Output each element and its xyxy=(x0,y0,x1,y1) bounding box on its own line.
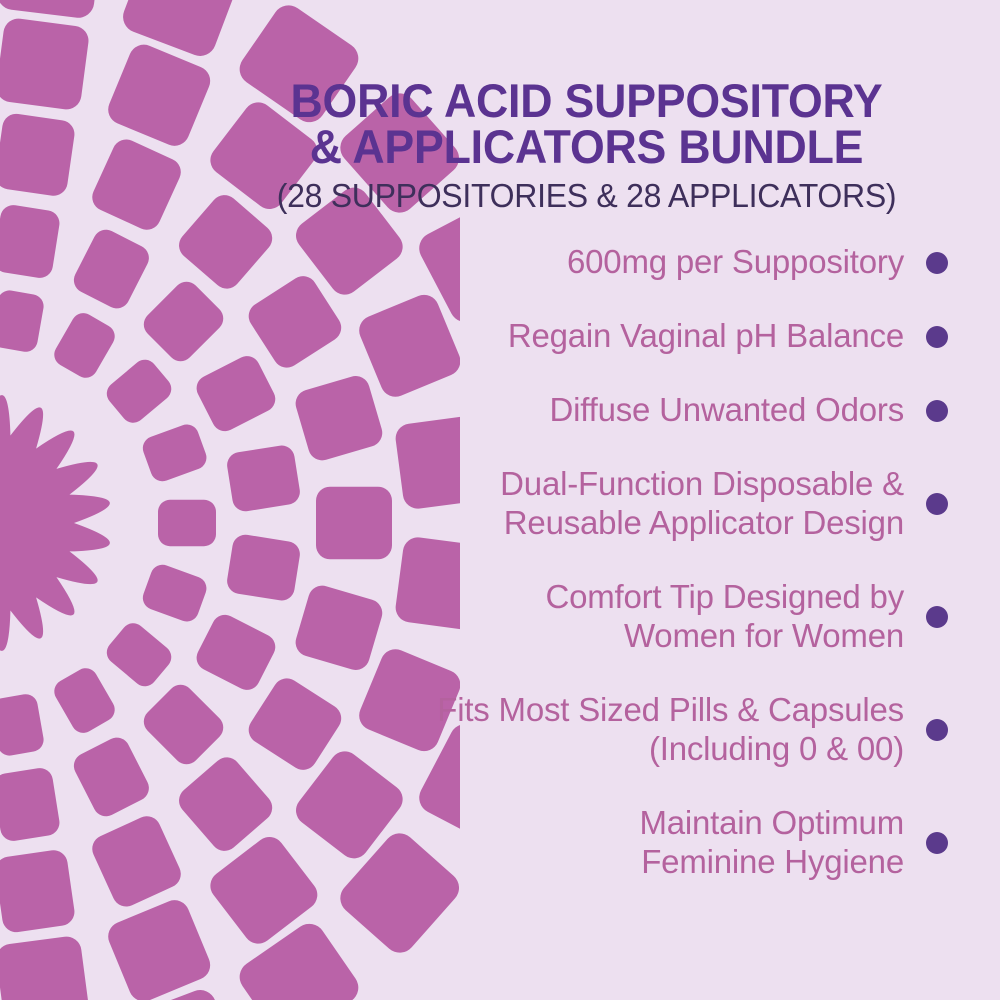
mandala-petal xyxy=(102,618,176,691)
feature-list-item: 600mg per Suppository xyxy=(225,243,948,282)
mandala-center-starburst xyxy=(0,395,110,651)
mandala-petal xyxy=(0,848,76,934)
mandala-petal xyxy=(0,17,90,111)
feature-list-item: Comfort Tip Designed by Women for Women xyxy=(225,578,948,656)
page-subtitle: (28 SUPPOSITORIES & 28 APPLICATORS) xyxy=(236,179,937,213)
mandala-petal xyxy=(104,40,215,150)
mandala-petal xyxy=(0,112,76,198)
feature-label: Regain Vaginal pH Balance xyxy=(508,317,904,356)
mandala-petal xyxy=(138,276,228,366)
feature-list-item: Maintain Optimum Feminine Hygiene xyxy=(225,804,948,882)
mandala-petal xyxy=(139,561,209,624)
content-column: BORIC ACID SUPPOSITORY & APPLICATORS BUN… xyxy=(225,0,1000,1000)
feature-label: Maintain Optimum Feminine Hygiene xyxy=(639,804,904,882)
mandala-petal xyxy=(118,0,241,61)
bullet-dot-icon xyxy=(926,493,948,515)
mandala-petal xyxy=(0,766,61,842)
mandala-petal xyxy=(0,203,61,279)
feature-label: Dual-Function Disposable & Reusable Appl… xyxy=(500,465,904,543)
mandala-petal xyxy=(0,0,103,20)
feature-label: Fits Most Sized Pills & Capsules (Includ… xyxy=(437,691,904,769)
mandala-petal xyxy=(0,935,90,1000)
feature-list-item: Diffuse Unwanted Odors xyxy=(225,391,948,430)
mandala-petal xyxy=(50,309,119,382)
bullet-dot-icon xyxy=(926,719,948,741)
feature-list-item: Dual-Function Disposable & Reusable Appl… xyxy=(225,465,948,543)
feature-list-item: Fits Most Sized Pills & Capsules (Includ… xyxy=(225,691,948,769)
mandala-petal xyxy=(0,289,45,354)
mandala-petal xyxy=(104,896,215,1000)
feature-list: 600mg per SuppositoryRegain Vaginal pH B… xyxy=(225,213,948,1000)
page-title-line-1: BORIC ACID SUPPOSITORY xyxy=(243,78,930,124)
bullet-dot-icon xyxy=(926,252,948,274)
mandala-petal xyxy=(102,355,176,428)
mandala-petal xyxy=(158,500,216,546)
feature-label: Diffuse Unwanted Odors xyxy=(549,391,904,430)
mandala-petal xyxy=(139,421,209,484)
mandala-petal xyxy=(69,733,153,821)
mandala-petal xyxy=(50,664,119,737)
mandala-petal xyxy=(118,985,241,1000)
bullet-dot-icon xyxy=(926,832,948,854)
mandala-petal xyxy=(0,692,45,757)
mandala-petal xyxy=(138,679,228,769)
bullet-dot-icon xyxy=(926,400,948,422)
mandala-petal xyxy=(69,225,153,313)
feature-label: Comfort Tip Designed by Women for Women xyxy=(545,578,904,656)
heading-block: BORIC ACID SUPPOSITORY & APPLICATORS BUN… xyxy=(225,78,948,213)
feature-label: 600mg per Suppository xyxy=(567,243,904,282)
bullet-dot-icon xyxy=(926,326,948,348)
mandala-petal xyxy=(88,812,186,911)
page-title-line-2: & APPLICATORS BUNDLE xyxy=(243,124,930,170)
mandala-petal xyxy=(88,135,186,234)
bullet-dot-icon xyxy=(926,606,948,628)
feature-list-item: Regain Vaginal pH Balance xyxy=(225,317,948,356)
